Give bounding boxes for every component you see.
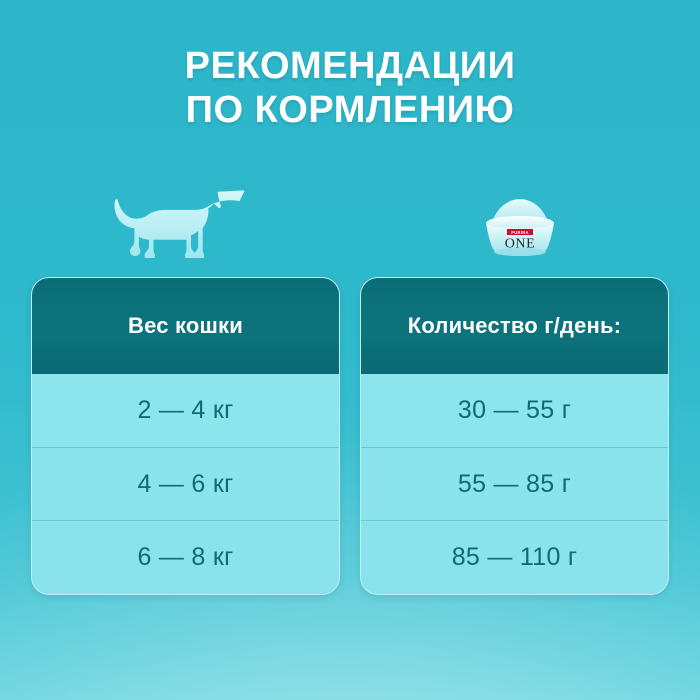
column-body-cat-weight: 2 — 4 кг 4 — 6 кг 6 — 8 кг	[32, 374, 339, 594]
cell-cat-weight-1: 2 — 4 кг	[137, 396, 233, 425]
column-header-label: Вес кошки	[128, 313, 243, 339]
illustration-row: PURINA ONE	[0, 186, 700, 264]
column-body-amount-per-day: 30 — 55 г 55 — 85 г 85 — 110 г	[361, 374, 668, 594]
table-row: 55 — 85 г	[361, 447, 668, 521]
feeding-recommendations-poster: РЕКОМЕНДАЦИИ ПО КОРМЛЕНИЮ	[0, 0, 700, 700]
page-title: РЕКОМЕНДАЦИИ ПО КОРМЛЕНИЮ	[0, 44, 700, 132]
svg-text:ONE: ONE	[505, 237, 536, 252]
table-row: 4 — 6 кг	[32, 447, 339, 521]
cat-silhouette-icon	[108, 186, 258, 258]
table-column-cat-weight: Вес кошки 2 — 4 кг 4 — 6 кг 6 — 8 кг	[31, 277, 340, 595]
cell-cat-weight-3: 6 — 8 кг	[137, 543, 233, 572]
svg-text:PURINA: PURINA	[511, 230, 529, 235]
table-row: 2 — 4 кг	[32, 374, 339, 447]
table-row: 85 — 110 г	[361, 520, 668, 594]
column-header-amount-per-day: Количество г/день:	[361, 278, 668, 374]
purina-one-food-bowl-icon: PURINA ONE	[470, 196, 570, 258]
cell-cat-weight-2: 4 — 6 кг	[137, 470, 233, 499]
table-row: 30 — 55 г	[361, 374, 668, 447]
feeding-table: Вес кошки 2 — 4 кг 4 — 6 кг 6 — 8 кг Кол…	[31, 277, 669, 595]
column-header-cat-weight: Вес кошки	[32, 278, 339, 374]
table-row: 6 — 8 кг	[32, 520, 339, 594]
page-title-line-1: РЕКОМЕНДАЦИИ	[0, 44, 700, 88]
cell-amount-1: 30 — 55 г	[458, 396, 571, 425]
cell-amount-3: 85 — 110 г	[452, 543, 578, 572]
table-column-amount-per-day: Количество г/день: 30 — 55 г 55 — 85 г 8…	[360, 277, 669, 595]
cell-amount-2: 55 — 85 г	[458, 470, 571, 499]
page-title-line-2: ПО КОРМЛЕНИЮ	[0, 88, 700, 132]
column-header-label: Количество г/день:	[408, 313, 622, 339]
